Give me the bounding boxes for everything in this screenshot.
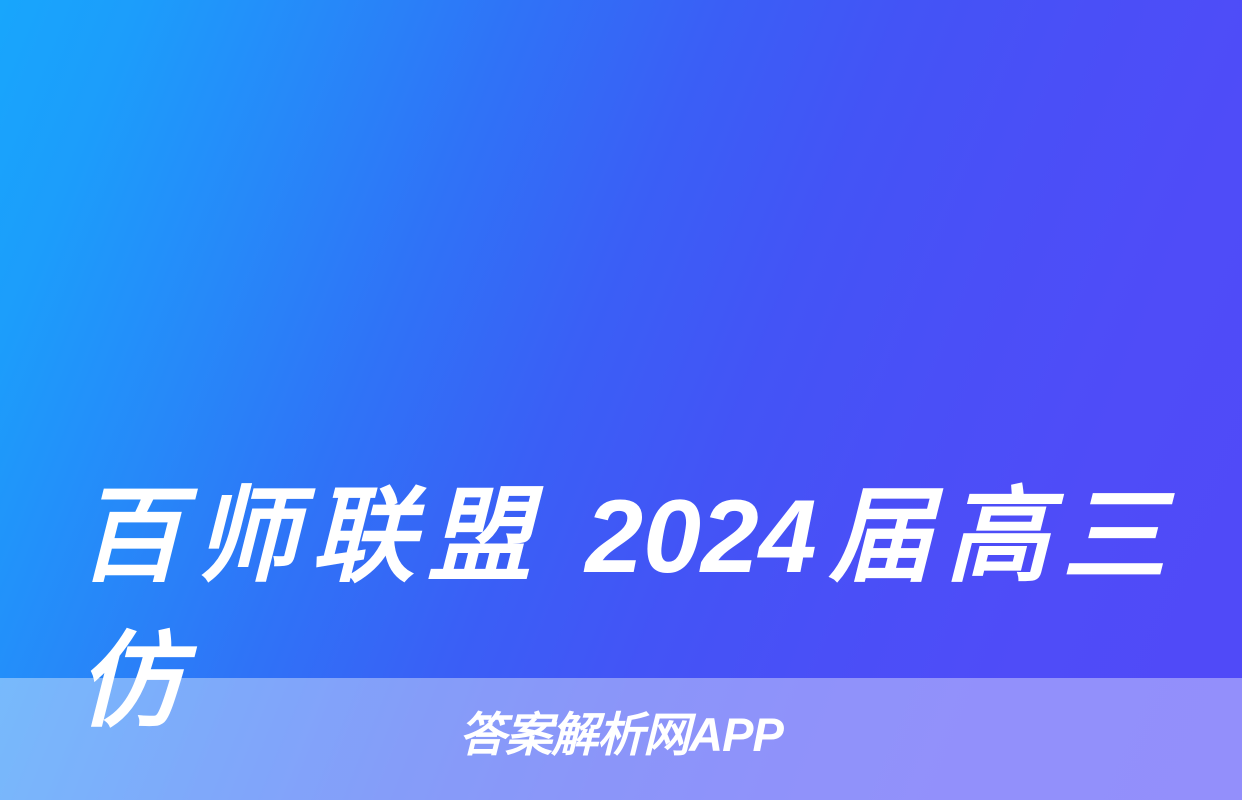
exam-poster-card: 百师联盟 2024届高三仿 真模拟考试(四)4 浙江卷 政治试题 答案解析网AP…	[0, 0, 1242, 800]
app-watermark: 答案解析网APP	[0, 706, 1242, 764]
